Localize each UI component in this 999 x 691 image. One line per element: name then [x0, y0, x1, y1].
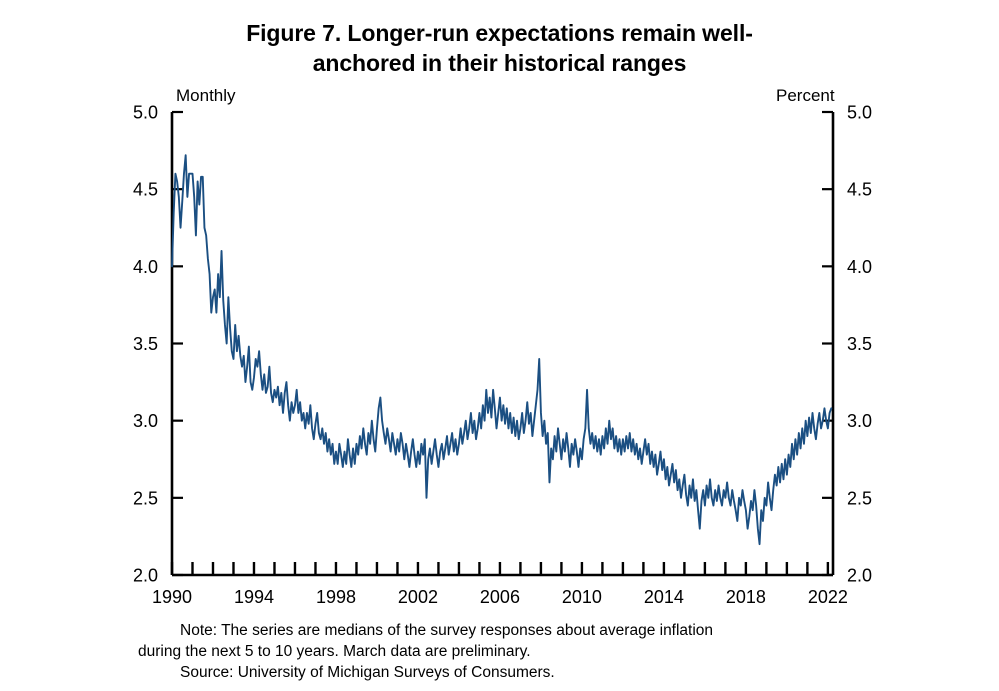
y-tick-label-left: 4.0 [133, 257, 158, 277]
x-tick-label: 1990 [152, 587, 192, 607]
source-line: Source: University of Michigan Surveys o… [138, 662, 878, 683]
y-tick-label-left: 3.0 [133, 411, 158, 431]
y-tick-label-right: 5.0 [847, 103, 872, 123]
x-tick-label: 2018 [726, 587, 766, 607]
note-line-2: during the next 5 to 10 years. March dat… [138, 641, 878, 662]
figure-container: Figure 7. Longer-run expectations remain… [0, 0, 999, 691]
x-tick-label: 2006 [480, 587, 520, 607]
x-tick-label: 2010 [562, 587, 602, 607]
data-series-line [172, 155, 831, 544]
x-tick-label: 2014 [644, 587, 684, 607]
plot-area: 2.02.02.52.53.03.03.53.54.04.04.54.55.05… [0, 0, 999, 691]
y-tick-label-left: 5.0 [133, 103, 158, 123]
y-tick-label-right: 4.5 [847, 180, 872, 200]
note-line-1: Note: The series are medians of the surv… [138, 620, 878, 641]
figure-footnotes: Note: The series are medians of the surv… [138, 620, 878, 683]
x-tick-label: 2002 [398, 587, 438, 607]
y-tick-label-right: 3.5 [847, 334, 872, 354]
x-tick-label: 1994 [234, 587, 274, 607]
y-tick-label-right: 3.0 [847, 411, 872, 431]
line-chart-svg: 2.02.02.52.53.03.03.53.54.04.04.54.55.05… [0, 0, 999, 691]
x-tick-label: 1998 [316, 587, 356, 607]
x-tick-label: 2022 [808, 587, 848, 607]
y-tick-label-right: 2.5 [847, 488, 872, 508]
y-tick-label-right: 4.0 [847, 257, 872, 277]
y-tick-label-left: 4.5 [133, 180, 158, 200]
y-tick-label-left: 2.0 [133, 566, 158, 586]
y-tick-label-left: 3.5 [133, 334, 158, 354]
y-tick-label-right: 2.0 [847, 566, 872, 586]
y-tick-label-left: 2.5 [133, 488, 158, 508]
